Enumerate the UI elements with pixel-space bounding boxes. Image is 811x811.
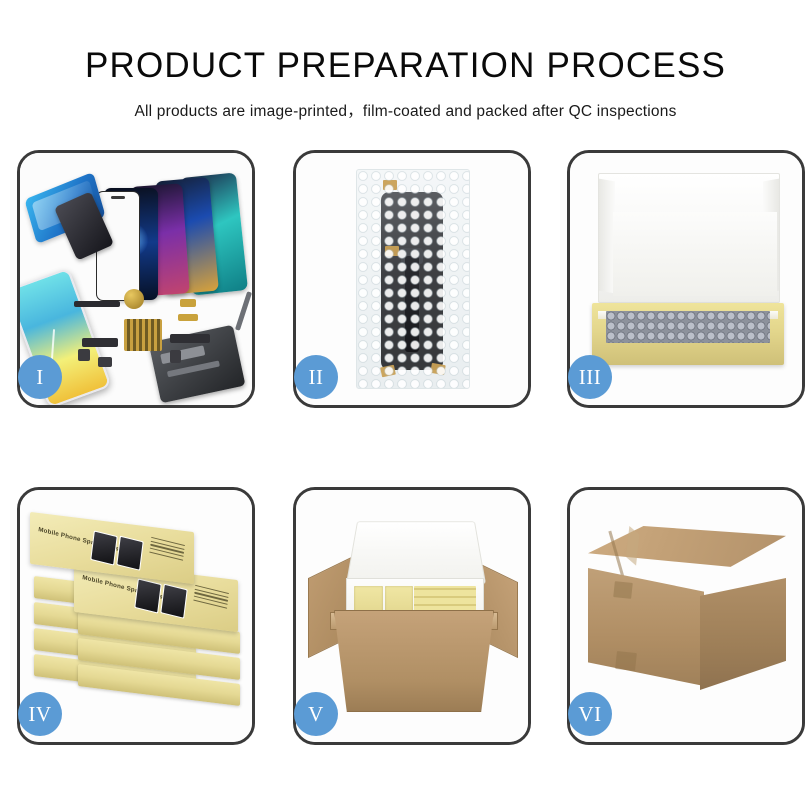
step-badge-2: II	[294, 355, 338, 399]
step-card-4: Mobile Phone Spare Parts Mobile Phone Sp…	[17, 487, 255, 745]
boxed-stack-image: Mobile Phone Spare Parts Mobile Phone Sp…	[28, 514, 248, 722]
foam-sheet-icon	[613, 212, 777, 296]
step-card-5: V	[293, 487, 531, 745]
step-badge-6: VI	[568, 692, 612, 736]
step-badge-4: IV	[18, 692, 62, 736]
step-badge-5: V	[294, 692, 338, 736]
step-card-1: I	[17, 150, 255, 408]
top-box-lid-rear: Mobile Phone Spare Parts	[30, 512, 194, 584]
flex-cable-icon	[82, 338, 118, 347]
page-title: PRODUCT PREPARATION PROCESS	[0, 48, 811, 83]
lcd-thumbnail-icon	[134, 578, 161, 613]
step-card-6: VI	[567, 487, 805, 745]
component-chip-3-icon	[170, 350, 181, 363]
carton-side-face	[700, 578, 786, 690]
bubble-wrap-texture	[357, 170, 469, 388]
step-badge-3: III	[568, 355, 612, 399]
box-lid-icon	[598, 173, 780, 303]
flex-cable-2-icon	[170, 334, 210, 343]
carton-marking-1	[613, 581, 633, 599]
carton-front-face	[588, 568, 704, 686]
bubble-wrapped-contents-icon	[606, 311, 770, 343]
box-spec-lines-rear	[149, 537, 185, 563]
lcd-thumbnail-3-icon	[90, 530, 117, 565]
tweezers-icon	[235, 291, 252, 331]
gold-contact-2-icon	[178, 314, 198, 321]
inner-box-packing-image	[592, 173, 784, 373]
lcd-thumbnail-4-icon	[116, 536, 143, 571]
step-card-3: III	[567, 150, 805, 408]
carton-marking-2	[615, 651, 637, 671]
header: PRODUCT PREPARATION PROCESS All products…	[0, 0, 811, 121]
component-chip-2-icon	[98, 357, 112, 367]
foam-carton-packing-image	[310, 516, 516, 716]
box-spec-lines	[193, 585, 229, 611]
product-preparation-infographic: PRODUCT PREPARATION PROCESS All products…	[0, 0, 811, 811]
bubble-wrapped-screen-image	[356, 169, 470, 389]
step-badge-1: I	[18, 355, 62, 399]
earpiece-mesh-icon	[74, 301, 120, 307]
gold-contact-icon	[180, 299, 196, 307]
lcd-thumbnail-2-icon	[160, 584, 187, 619]
step-card-2: II	[293, 150, 531, 408]
carton-body	[334, 610, 494, 712]
component-chip-icon	[78, 349, 90, 361]
sealed-shipping-carton-image	[588, 526, 786, 698]
connector-grid-icon	[124, 319, 162, 351]
foam-cooler-lid-icon	[346, 521, 486, 584]
vibrator-motor-icon	[124, 289, 144, 309]
page-subtitle: All products are image-printed，film-coat…	[0, 99, 811, 121]
